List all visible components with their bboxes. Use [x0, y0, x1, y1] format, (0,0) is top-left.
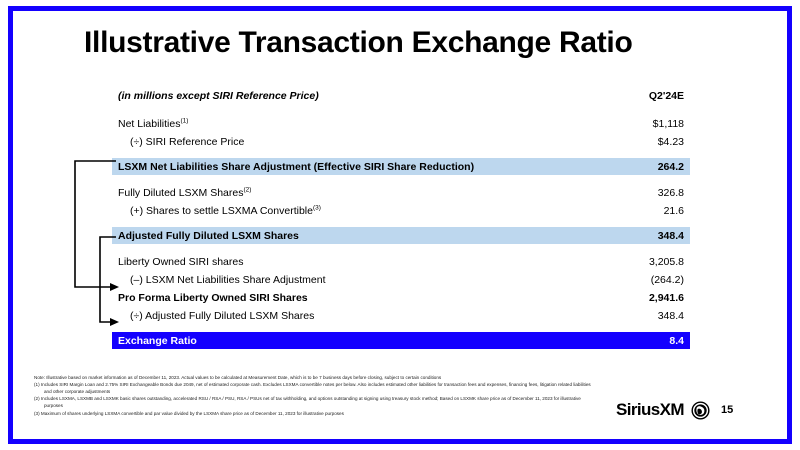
- table-row-pro-forma-liberty-owned-siri-shares: Pro Forma Liberty Owned SIRI Shares 2,94…: [112, 289, 690, 307]
- row-label: Net Liabilities: [118, 118, 180, 130]
- row-value: 2,941.6: [649, 292, 684, 304]
- row-spacer: [112, 244, 690, 253]
- row-label: LSXM Net Liabilities Share Adjustment (E…: [118, 161, 474, 173]
- table-row-adjusted-fully-diluted-lsxm-shares: Adjusted Fully Diluted LSXM Shares 348.4: [112, 227, 690, 244]
- table-row-net-liabilities: Net Liabilities(1) $1,118: [112, 115, 690, 133]
- footnote-2: (2) Includes LSXMA, LSXMB and LSXMK basi…: [34, 395, 594, 409]
- footnotes: Note: Illustrative based on market infor…: [34, 374, 594, 417]
- table-row-liberty-owned-siri-shares: Liberty Owned SIRI shares 3,205.8: [112, 253, 690, 271]
- row-label: Liberty Owned SIRI shares: [118, 256, 243, 268]
- table-row-fully-diluted-lsxm-shares: Fully Diluted LSXM Shares(2) 326.8: [112, 184, 690, 202]
- page-title: Illustrative Transaction Exchange Ratio: [84, 26, 632, 60]
- table-row-siri-reference-price: (÷) SIRI Reference Price $4.23: [112, 133, 690, 151]
- siriusxm-dog-emblem-icon: [691, 401, 710, 420]
- row-spacer: [112, 175, 690, 184]
- row-label: Exchange Ratio: [118, 335, 197, 347]
- row-label: (+) Shares to settle LSXMA Convertible: [130, 205, 313, 217]
- exchange-ratio-table: (in millions except SIRI Reference Price…: [112, 86, 690, 349]
- siriusxm-logo: SiriusXM 15: [616, 400, 733, 420]
- row-spacer: [112, 220, 690, 227]
- row-label: Pro Forma Liberty Owned SIRI Shares: [118, 292, 308, 304]
- row-spacer: [112, 325, 690, 332]
- row-spacer: [112, 151, 690, 158]
- table-header-period: Q2'24E: [649, 90, 684, 102]
- table-row-divided-by-adjusted-fully-diluted-lsxm-shares: (÷) Adjusted Fully Diluted LSXM Shares 3…: [112, 307, 690, 325]
- row-value: 21.6: [664, 205, 684, 217]
- footnote-ref: (2): [243, 187, 251, 194]
- row-spacer: [112, 106, 690, 115]
- page-number: 15: [721, 404, 733, 416]
- row-value: (264.2): [651, 274, 684, 286]
- footnote-3: (3) Maximum of shares underlying LSXMA c…: [34, 410, 594, 417]
- row-value: 264.2: [658, 161, 684, 173]
- slide: Illustrative Transaction Exchange Ratio …: [0, 0, 800, 450]
- row-label: (÷) Adjusted Fully Diluted LSXM Shares: [118, 310, 314, 322]
- table-row-lsxm-net-liabilities-share-adjustment: LSXM Net Liabilities Share Adjustment (E…: [112, 158, 690, 175]
- footnote-ref: (3): [313, 205, 321, 212]
- row-value: $4.23: [658, 136, 684, 148]
- logo-wordmark: SiriusXM: [616, 400, 684, 420]
- row-value: 8.4: [669, 335, 684, 347]
- table-header-row: (in millions except SIRI Reference Price…: [112, 86, 690, 106]
- row-value: 348.4: [658, 230, 684, 242]
- row-label: Adjusted Fully Diluted LSXM Shares: [118, 230, 299, 242]
- footnote-1: (1) Includes SIRI Margin Loan and 2.75% …: [34, 381, 594, 395]
- row-value: 348.4: [658, 310, 684, 322]
- table-row-exchange-ratio: Exchange Ratio 8.4: [112, 332, 690, 349]
- row-value: 326.8: [658, 187, 684, 199]
- row-label: (÷) SIRI Reference Price: [118, 136, 244, 148]
- row-value: 3,205.8: [649, 256, 684, 268]
- row-value: $1,118: [653, 118, 684, 130]
- footnote-ref: (1): [180, 118, 188, 125]
- row-label: (–) LSXM Net Liabilities Share Adjustmen…: [118, 274, 326, 286]
- footnote-note: Note: Illustrative based on market infor…: [34, 374, 594, 381]
- table-header-label: (in millions except SIRI Reference Price…: [118, 90, 319, 102]
- row-label: Fully Diluted LSXM Shares: [118, 187, 243, 199]
- table-row-shares-to-settle-lsxma-convertible: (+) Shares to settle LSXMA Convertible(3…: [112, 202, 690, 220]
- table-row-less-lsxm-net-liabilities-share-adjustment: (–) LSXM Net Liabilities Share Adjustmen…: [112, 271, 690, 289]
